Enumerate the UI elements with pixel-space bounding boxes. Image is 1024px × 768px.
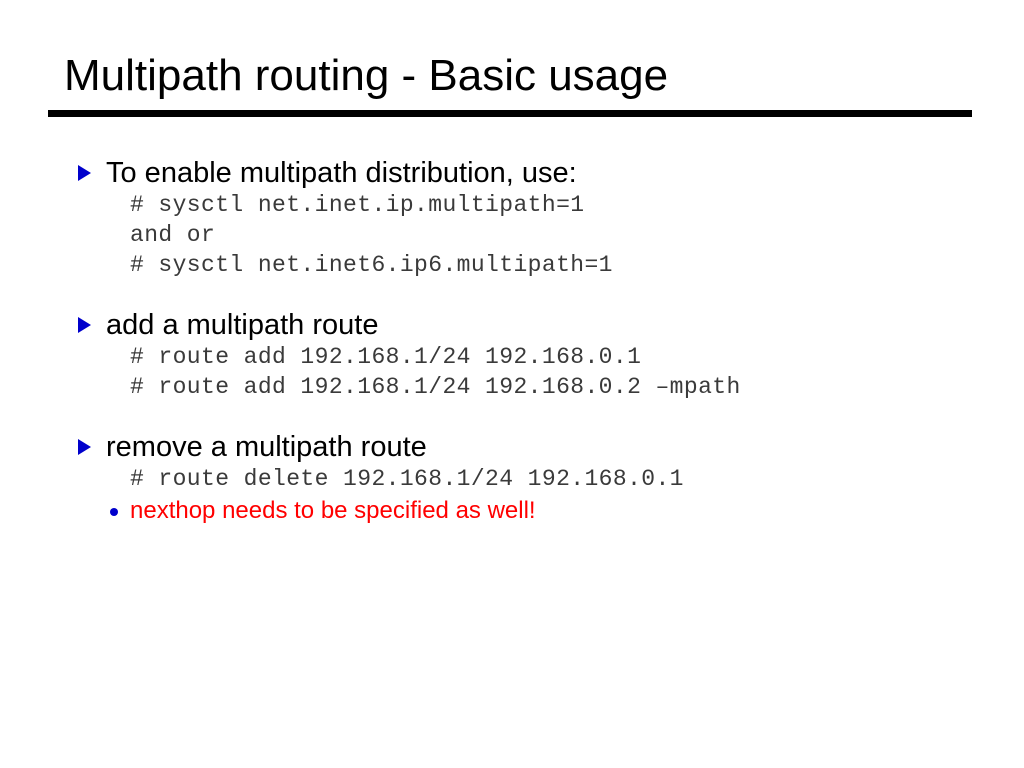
triangle-right-bullet-icon <box>78 439 91 455</box>
slide-body: To enable multipath distribution, use: #… <box>0 156 1024 526</box>
sub-bullet-note: nexthop needs to be specified as well! <box>130 496 536 526</box>
code-line: and or <box>130 220 1024 250</box>
code-line: # route delete 192.168.1/24 192.168.0.1 <box>130 464 1024 494</box>
bullet-item: add a multipath route <box>0 308 1024 342</box>
bullet-item: To enable multipath distribution, use: <box>0 156 1024 190</box>
content-block: remove a multipath route # route delete … <box>0 430 1024 526</box>
code-line: # sysctl net.inet.ip.multipath=1 <box>130 190 1024 220</box>
code-line: # sysctl net.inet6.ip6.multipath=1 <box>130 250 1024 280</box>
bullet-item: remove a multipath route <box>0 430 1024 464</box>
bullet-heading: add a multipath route <box>106 308 378 342</box>
bullet-heading: To enable multipath distribution, use: <box>106 156 577 190</box>
slide-canvas: Multipath routing - Basic usage To enabl… <box>0 0 1024 768</box>
round-dot-bullet-icon <box>110 508 118 516</box>
code-line: # route add 192.168.1/24 192.168.0.2 –mp… <box>130 372 1024 402</box>
content-block: To enable multipath distribution, use: #… <box>0 156 1024 280</box>
sub-bullet-item: nexthop needs to be specified as well! <box>0 496 1024 526</box>
bullet-heading: remove a multipath route <box>106 430 427 464</box>
triangle-right-bullet-icon <box>78 317 91 333</box>
title-underline-rule <box>48 110 972 117</box>
content-block: add a multipath route # route add 192.16… <box>0 308 1024 402</box>
page-title: Multipath routing - Basic usage <box>64 52 668 100</box>
code-line: # route add 192.168.1/24 192.168.0.1 <box>130 342 1024 372</box>
triangle-right-bullet-icon <box>78 165 91 181</box>
